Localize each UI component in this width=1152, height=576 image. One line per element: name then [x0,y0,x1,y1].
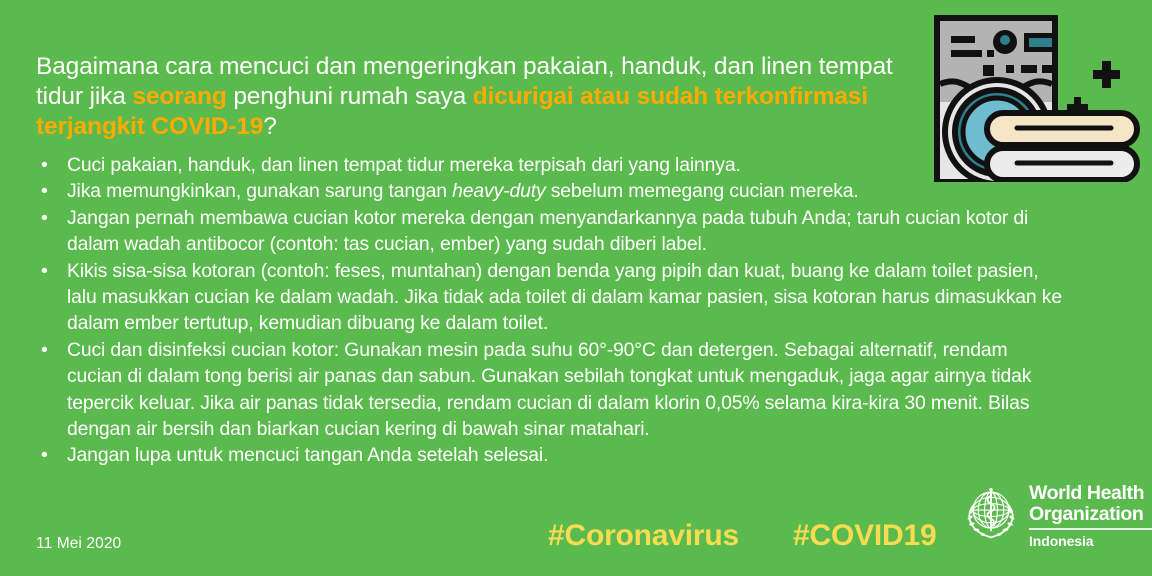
list-item-text: Cuci pakaian, handuk, dan linen tempat t… [67,152,1066,178]
page-title: Bagaimana cara mencuci dan mengeringkan … [36,52,926,142]
washing-machine-icon [925,12,1145,182]
list-item-text: Jika memungkinkan, gunakan sarung tangan… [67,178,1066,204]
list-item-text-italic: heavy-duty [452,180,545,202]
bullet-icon: • [36,337,67,363]
list-item-text-pre: Jika memungkinkan, gunakan sarung tangan [67,180,452,202]
list-item: • Kikis sisa-sisa kotoran (contoh: feses… [36,258,1066,337]
list-item-text: Jangan pernah membawa cucian kotor merek… [67,205,1066,258]
list-item: • Jangan lupa untuk mencuci tangan Anda … [36,442,1066,468]
hashtag-group: #Coronavirus #COVID19 [548,519,936,553]
bullet-icon: • [36,442,67,468]
who-covid-laundry-infographic: Bagaimana cara mencuci dan mengeringkan … [0,0,1152,576]
bullet-icon: • [36,258,67,284]
list-item-text: Kikis sisa-sisa kotoran (contoh: feses, … [67,258,1066,337]
who-name-line-1: World Health [1029,484,1152,504]
hashtag-coronavirus: #Coronavirus [548,519,739,553]
who-logo: World Health Organization Indonesia [962,484,1152,548]
headline-part-3: ? [263,113,276,140]
list-item-text: Jangan lupa untuk mencuci tangan Anda se… [67,442,1066,468]
list-item: • Cuci dan disinfeksi cucian kotor: Guna… [36,337,1066,443]
headline-highlight-1: seorang [132,83,226,110]
who-name-line-2: Organization [1029,505,1152,525]
who-country: Indonesia [1029,534,1152,548]
bullet-icon: • [36,178,67,204]
list-item-text-post: sebelum memegang cucian mereka. [546,180,859,202]
list-item: • Cuci pakaian, handuk, dan linen tempat… [36,152,1066,178]
who-divider [1029,528,1152,530]
headline-part-2: penghuni rumah saya [227,83,473,110]
who-wordmark: World Health Organization Indonesia [1029,484,1152,548]
hashtag-covid19: #COVID19 [793,519,936,553]
list-item-text: Cuci dan disinfeksi cucian kotor: Gunaka… [67,337,1066,443]
advice-list: • Cuci pakaian, handuk, dan linen tempat… [36,152,1066,469]
bullet-icon: • [36,152,67,178]
list-item: • Jangan pernah membawa cucian kotor mer… [36,205,1066,258]
bullet-icon: • [36,205,67,231]
who-emblem-icon [962,484,1020,547]
date-stamp: 11 Mei 2020 [36,535,121,553]
list-item: • Jika memungkinkan, gunakan sarung tang… [36,178,1066,204]
